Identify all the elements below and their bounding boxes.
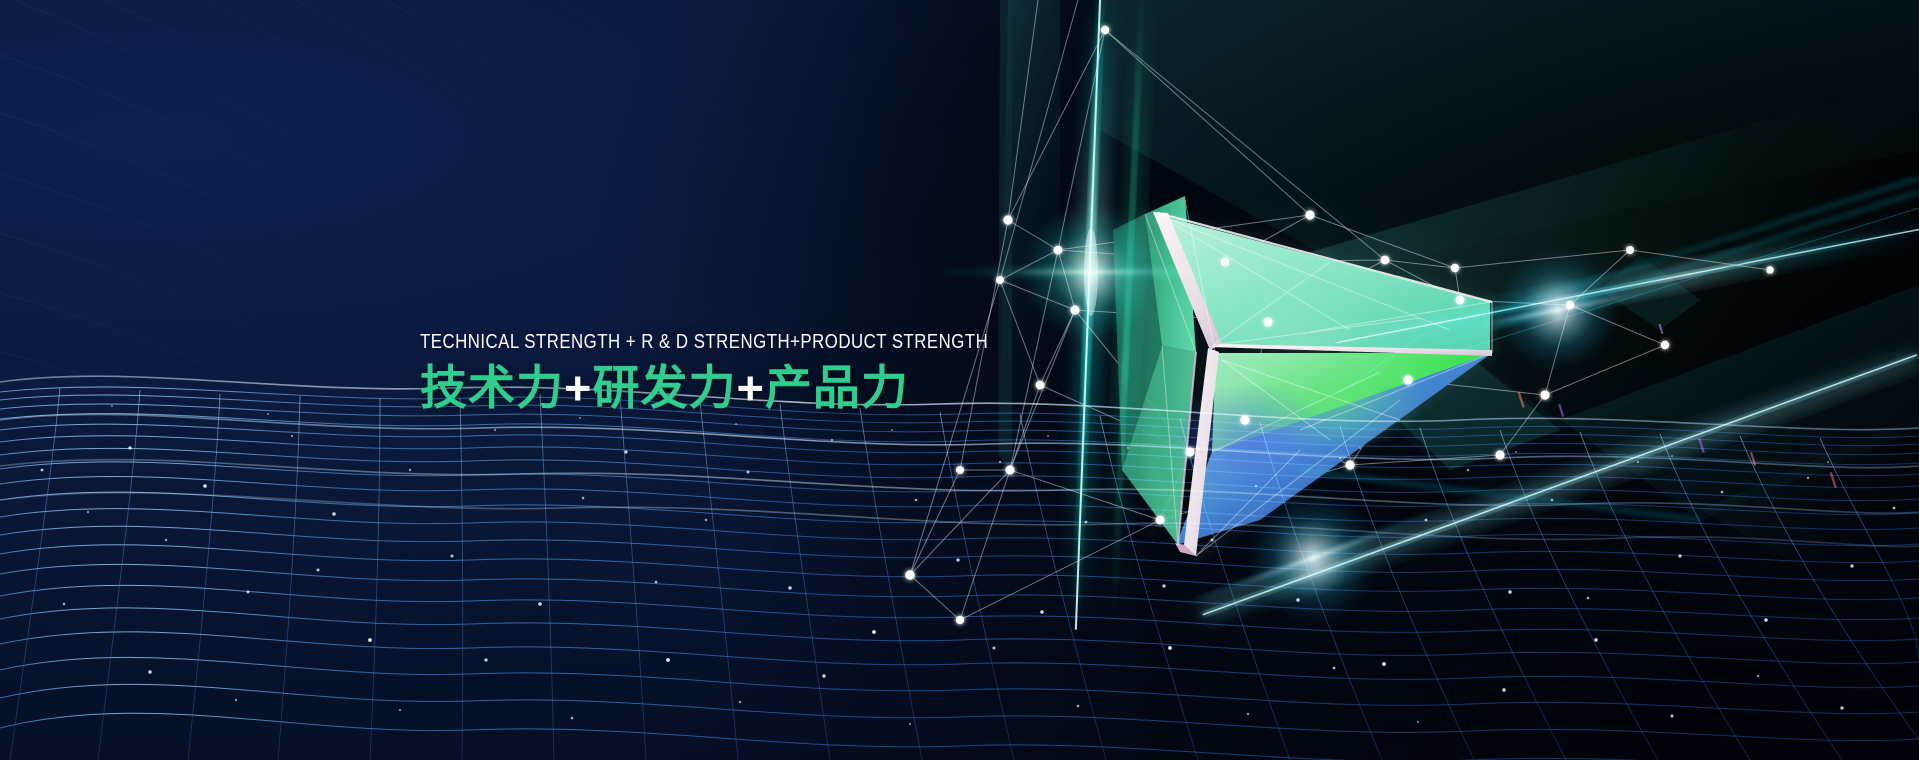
lens-flares bbox=[0, 0, 1919, 760]
hero-title-segment-1: 技术力 bbox=[420, 361, 564, 414]
hero-title-segment-4: + bbox=[736, 361, 764, 414]
hero-banner: TECHNICAL STRENGTH + R & D STRENGTH+PROD… bbox=[0, 0, 1919, 760]
hero-text-block: TECHNICAL STRENGTH + R & D STRENGTH+PROD… bbox=[420, 331, 940, 414]
hero-title-segment-5: 产品力 bbox=[765, 361, 909, 414]
hero-title-segment-2: + bbox=[564, 361, 592, 414]
hero-title-chinese: 技术力+研发力+产品力 bbox=[420, 362, 940, 415]
hero-title-segment-3: 研发力 bbox=[592, 361, 736, 414]
hero-subtitle-english: TECHNICAL STRENGTH + R & D STRENGTH+PROD… bbox=[420, 331, 846, 354]
